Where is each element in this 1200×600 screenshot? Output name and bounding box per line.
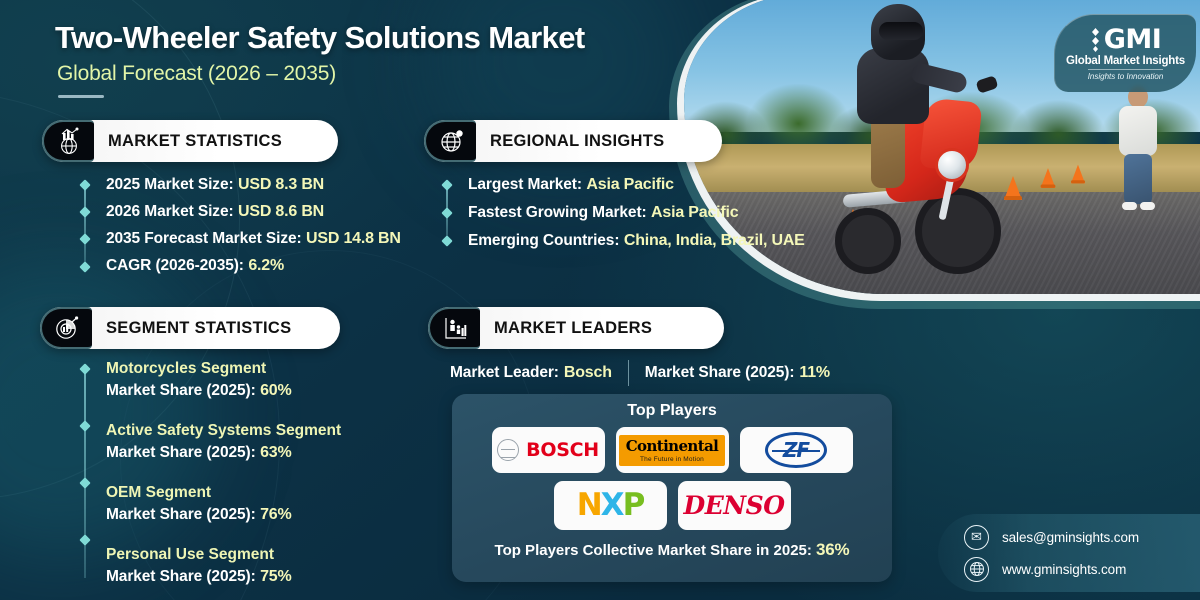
stat-value: 6.2% (248, 257, 284, 274)
gmi-full-name: Global Market Insights (1066, 55, 1185, 67)
logo-card-zf[interactable]: ZF (740, 427, 853, 473)
segment-share-label: Market Share (2025): (106, 506, 256, 523)
region-value: China, India, Brazil, UAE (624, 232, 805, 249)
market-statistics-list: 2025 Market Size: USD 8.3 BN 2026 Market… (84, 176, 401, 275)
segment-share-value: 63% (260, 444, 291, 461)
standing-instructor (1116, 86, 1160, 212)
continental-tagline: The Future in Motion (626, 456, 719, 463)
collective-share-value: 36% (816, 540, 849, 559)
stat-value: USD 8.6 BN (238, 203, 324, 220)
regional-insights-title: REGIONAL INSIGHTS (476, 132, 664, 151)
instructor-shoe (1140, 202, 1155, 210)
segment-name-row: Active Safety Systems Segment (84, 422, 341, 440)
contact-website-row[interactable]: www.gminsights.com (964, 557, 1200, 582)
gmi-logo-mark-row: GMI (1090, 26, 1162, 53)
instructor-shirt (1119, 106, 1157, 156)
vertical-divider (628, 360, 629, 386)
segment-share-label: Market Share (2025): (106, 382, 256, 399)
pie-chart-icon (40, 307, 92, 349)
continental-wordmark: Continental (626, 439, 719, 454)
top-players-title: Top Players (627, 402, 717, 420)
headlight (935, 148, 969, 182)
stat-row: CAGR (2026-2035): 6.2% (84, 257, 401, 275)
page-subtitle: Global Forecast (2026 – 2035) (57, 62, 336, 86)
segment-name-row: Motorcycles Segment (84, 360, 341, 378)
segment-share-row: Market Share (2025): 60% (84, 382, 341, 400)
bosch-wordmark: BOSCH (526, 439, 599, 461)
segment-name: Motorcycles Segment (106, 360, 266, 377)
contact-email: sales@gminsights.com (1002, 530, 1139, 545)
segment-statistics-title: SEGMENT STATISTICS (92, 319, 291, 338)
stat-label: CAGR (2026-2035): (106, 257, 244, 274)
segment-share-value: 60% (260, 382, 291, 399)
zf-wordmark: ZF (783, 438, 809, 462)
logo-card-bosch[interactable]: BOSCH (492, 427, 605, 473)
segment-share-value: 76% (260, 506, 291, 523)
globe-icon (964, 557, 989, 582)
segment-name: Active Safety Systems Segment (106, 422, 341, 439)
helmet-visor (879, 22, 923, 40)
globe-pin-icon (424, 120, 476, 162)
segment-name-row: Personal Use Segment (84, 546, 341, 564)
collective-share-label: Top Players Collective Market Share in 2… (495, 542, 812, 559)
contact-website: www.gminsights.com (1002, 562, 1126, 577)
top-players-panel: Top Players BOSCH Continental The Future… (452, 394, 892, 582)
market-statistics-title: MARKET STATISTICS (94, 132, 282, 151)
nxp-logo: NXP (577, 490, 644, 521)
stat-value: USD 14.8 BN (306, 230, 401, 247)
zf-logo: ZF (765, 432, 827, 468)
gmi-tagline: Insights to Innovation (1088, 69, 1164, 81)
segment-name-row: OEM Segment (84, 484, 341, 502)
bosch-logo: BOSCH (497, 439, 599, 461)
segment-share-row: Market Share (2025): 63% (84, 444, 341, 462)
segment-statistics-header: SEGMENT STATISTICS (40, 307, 340, 349)
segment-statistics-list: Motorcycles Segment Market Share (2025):… (84, 360, 341, 586)
collective-share-row: Top Players Collective Market Share in 2… (495, 540, 850, 560)
contact-email-row[interactable]: ✉ sales@gminsights.com (964, 525, 1200, 550)
region-row: Emerging Countries: China, India, Brazil… (446, 232, 805, 250)
traffic-cone (1041, 168, 1056, 188)
segment-share-value: 75% (260, 568, 291, 585)
podium-chart-icon (428, 307, 480, 349)
title-underline (58, 95, 104, 98)
nxp-letter-p: P (623, 490, 644, 521)
stat-row: 2035 Forecast Market Size: USD 14.8 BN (84, 230, 401, 248)
motorcycle-with-rider (849, 56, 1029, 282)
rear-wheel (835, 208, 901, 274)
segment-share-row: Market Share (2025): 76% (84, 506, 341, 524)
segment-share-label: Market Share (2025): (106, 444, 256, 461)
stat-row: 2025 Market Size: USD 8.3 BN (84, 176, 401, 194)
gmi-initials: GMI (1104, 26, 1162, 53)
logo-card-denso[interactable]: DENSO (678, 481, 791, 530)
diamond-icon (1090, 27, 1101, 53)
bosch-mark-icon (497, 439, 519, 461)
denso-wordmark: DENSO (684, 491, 785, 520)
market-leader-summary: Market Leader: Bosch Market Share (2025)… (450, 360, 880, 386)
instructor-jeans (1124, 154, 1152, 204)
globe-chart-icon (42, 120, 94, 162)
stat-row: 2026 Market Size: USD 8.6 BN (84, 203, 401, 221)
region-label: Largest Market: (468, 176, 582, 193)
market-leader-label: Market Leader: (450, 364, 559, 382)
segment-name: OEM Segment (106, 484, 211, 501)
timeline-line (84, 184, 86, 267)
region-value: Asia Pacific (586, 176, 673, 193)
market-leaders-header: MARKET LEADERS (428, 307, 724, 349)
nxp-letter-x: X (601, 490, 623, 521)
logo-card-continental[interactable]: Continental The Future in Motion (616, 427, 729, 473)
stat-value: USD 8.3 BN (238, 176, 324, 193)
stat-label: 2025 Market Size: (106, 176, 234, 193)
market-statistics-header: MARKET STATISTICS (42, 120, 338, 162)
infographic-canvas: GMI Global Market Insights Insights to I… (0, 0, 1200, 600)
logo-row-1: BOSCH Continental The Future in Motion Z… (492, 427, 853, 473)
traffic-cone (1071, 165, 1085, 184)
region-label: Fastest Growing Market: (468, 204, 647, 221)
region-label: Emerging Countries: (468, 232, 619, 249)
region-row: Largest Market: Asia Pacific (446, 176, 805, 194)
regional-insights-list: Largest Market: Asia Pacific Fastest Gro… (446, 176, 805, 250)
continental-logo: Continental The Future in Motion (619, 435, 726, 466)
logo-row-2: NXP DENSO (554, 481, 791, 530)
stat-label: 2026 Market Size: (106, 203, 234, 220)
leader-share-value: 11% (799, 364, 830, 382)
regional-insights-header: REGIONAL INSIGHTS (424, 120, 722, 162)
front-wheel (915, 188, 1001, 274)
leader-share-label: Market Share (2025): (645, 364, 795, 382)
gmi-logo-badge: GMI Global Market Insights Insights to I… (1054, 14, 1196, 92)
market-leaders-title: MARKET LEADERS (480, 319, 652, 338)
instructor-shoe (1122, 202, 1137, 210)
mirror (975, 75, 998, 94)
segment-share-row: Market Share (2025): 75% (84, 568, 341, 586)
envelope-icon: ✉ (964, 525, 989, 550)
contact-panel: ✉ sales@gminsights.com www.gminsights.co… (938, 514, 1200, 592)
market-leader-value: Bosch (564, 364, 612, 382)
page-title: Two-Wheeler Safety Solutions Market (55, 20, 585, 56)
nxp-letter-n: N (577, 490, 601, 521)
rider-helmet (871, 4, 925, 60)
stat-label: 2035 Forecast Market Size: (106, 230, 302, 247)
segment-name: Personal Use Segment (106, 546, 274, 563)
region-row: Fastest Growing Market: Asia Pacific (446, 204, 805, 222)
logo-card-nxp[interactable]: NXP (554, 481, 667, 530)
segment-share-label: Market Share (2025): (106, 568, 256, 585)
region-value: Asia Pacific (651, 204, 738, 221)
